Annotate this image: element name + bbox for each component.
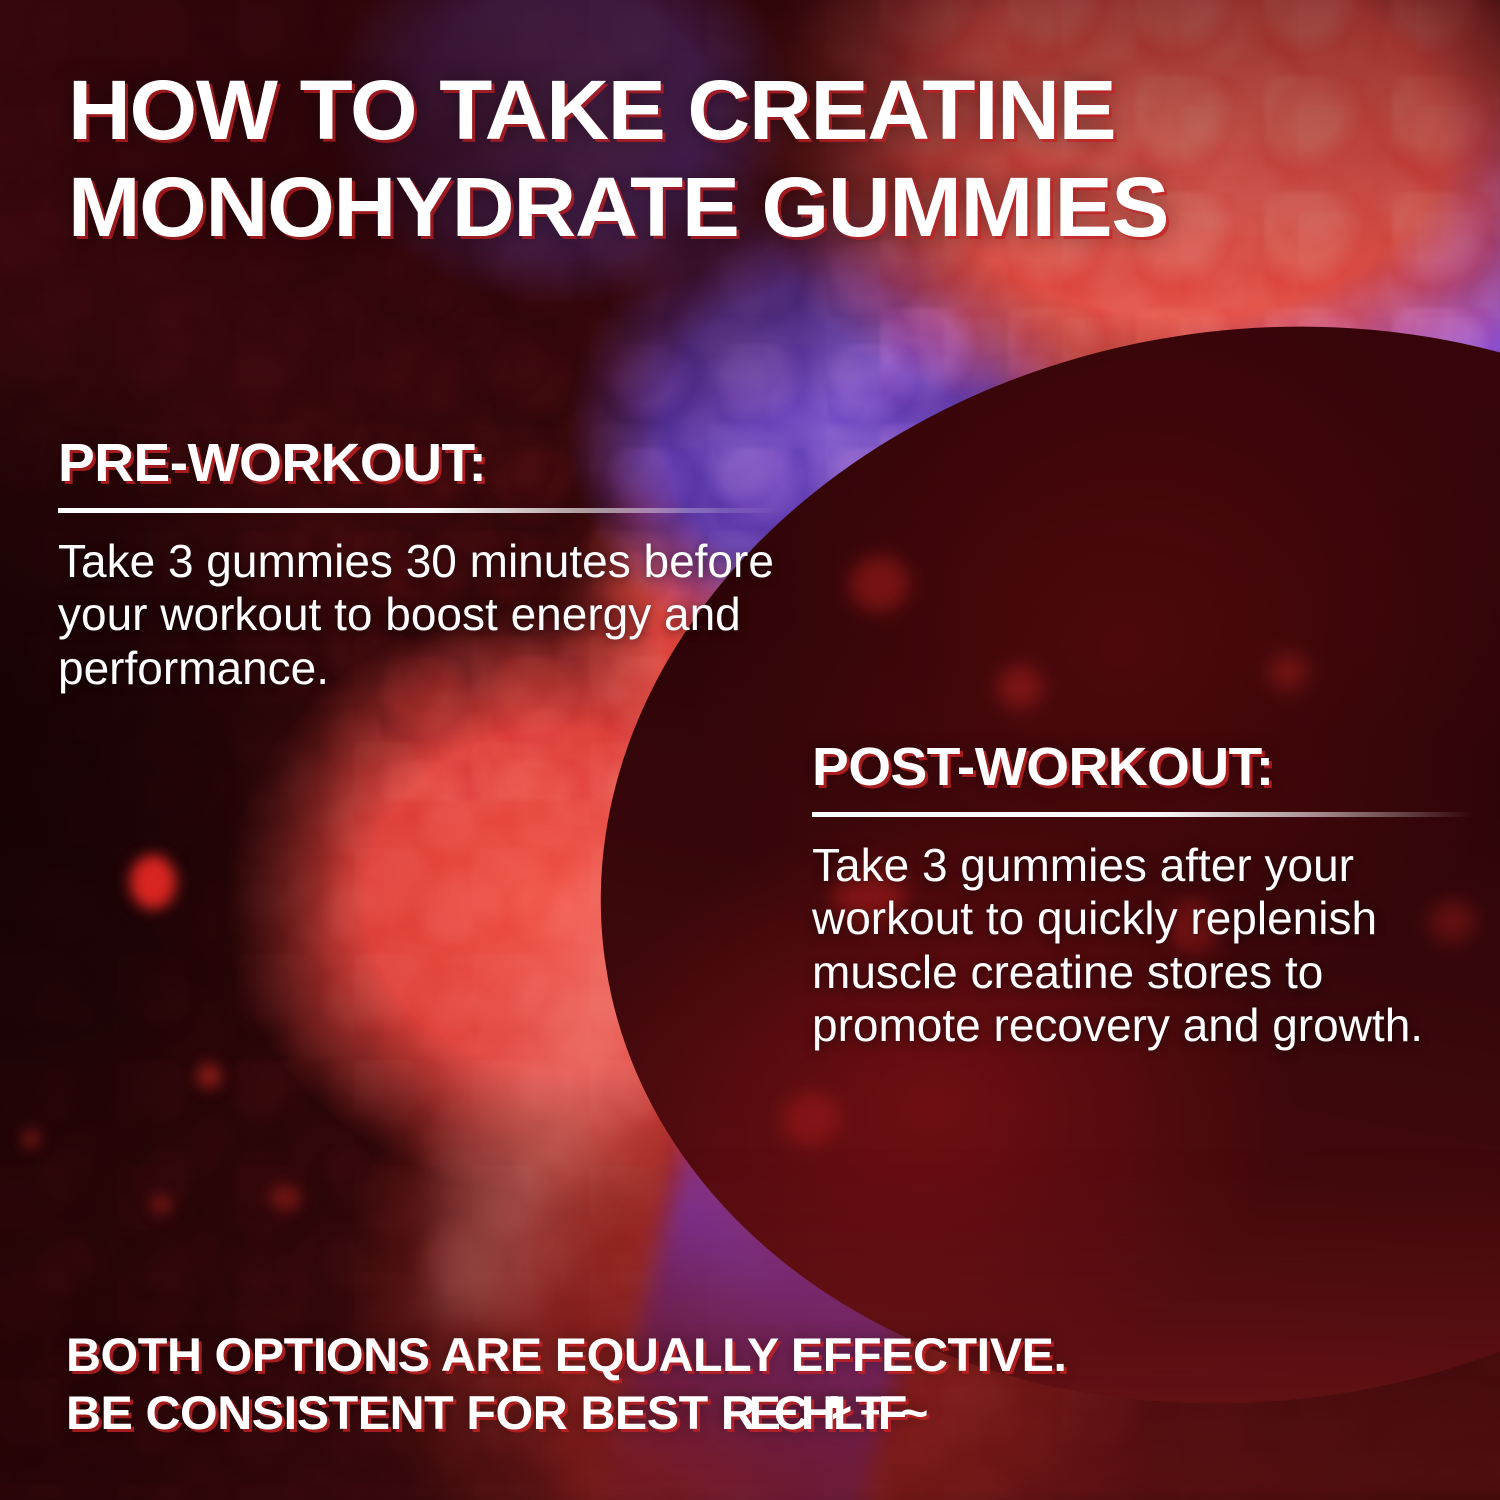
panel-bokeh bbox=[845, 551, 913, 616]
pre-workout-divider bbox=[58, 508, 778, 513]
section-pre-workout: PRE-WORKOUT: Take 3 gummies 30 minutes b… bbox=[58, 436, 778, 695]
footer-callout: BOTH OPTIONS ARE EQUALLY EFFECTIVE. BE C… bbox=[66, 1326, 1405, 1443]
post-workout-body: Take 3 gummies after your workout to qui… bbox=[812, 839, 1472, 1052]
bokeh-particle bbox=[270, 1185, 300, 1211]
panel-bokeh bbox=[1265, 650, 1310, 694]
pre-workout-body: Take 3 gummies 30 minutes before your wo… bbox=[58, 535, 778, 695]
panel-bokeh bbox=[779, 1089, 844, 1149]
pre-workout-heading: PRE-WORKOUT: bbox=[58, 436, 792, 490]
footer-line-2-prefix: BE CONSISTENT FOR BEST bbox=[66, 1386, 721, 1439]
post-workout-divider bbox=[812, 812, 1472, 817]
bokeh-particle bbox=[196, 1063, 222, 1089]
bokeh-particle bbox=[22, 1130, 40, 1148]
bokeh-particle bbox=[150, 1195, 172, 1215]
footer-line-2-garbled-word: REЄН'ŁŦF~ bbox=[721, 1386, 921, 1439]
page-title: HOW TO TAKE CREATINE MONOHYDRATE GUMMIES bbox=[68, 62, 1403, 257]
panel-bokeh bbox=[994, 662, 1046, 713]
footer-line-1: BOTH OPTIONS ARE EQUALLY EFFECTIVE. bbox=[66, 1326, 1405, 1384]
infographic-canvas: HOW TO TAKE CREATINE MONOHYDRATE GUMMIES… bbox=[0, 0, 1500, 1500]
footer-line-2: BE CONSISTENT FOR BEST REЄН'ŁŦF~ bbox=[66, 1384, 1405, 1442]
section-post-workout: POST-WORKOUT: Take 3 gummies after your … bbox=[812, 740, 1472, 1052]
bokeh-particle bbox=[130, 855, 176, 909]
post-workout-heading: POST-WORKOUT: bbox=[812, 740, 1485, 794]
